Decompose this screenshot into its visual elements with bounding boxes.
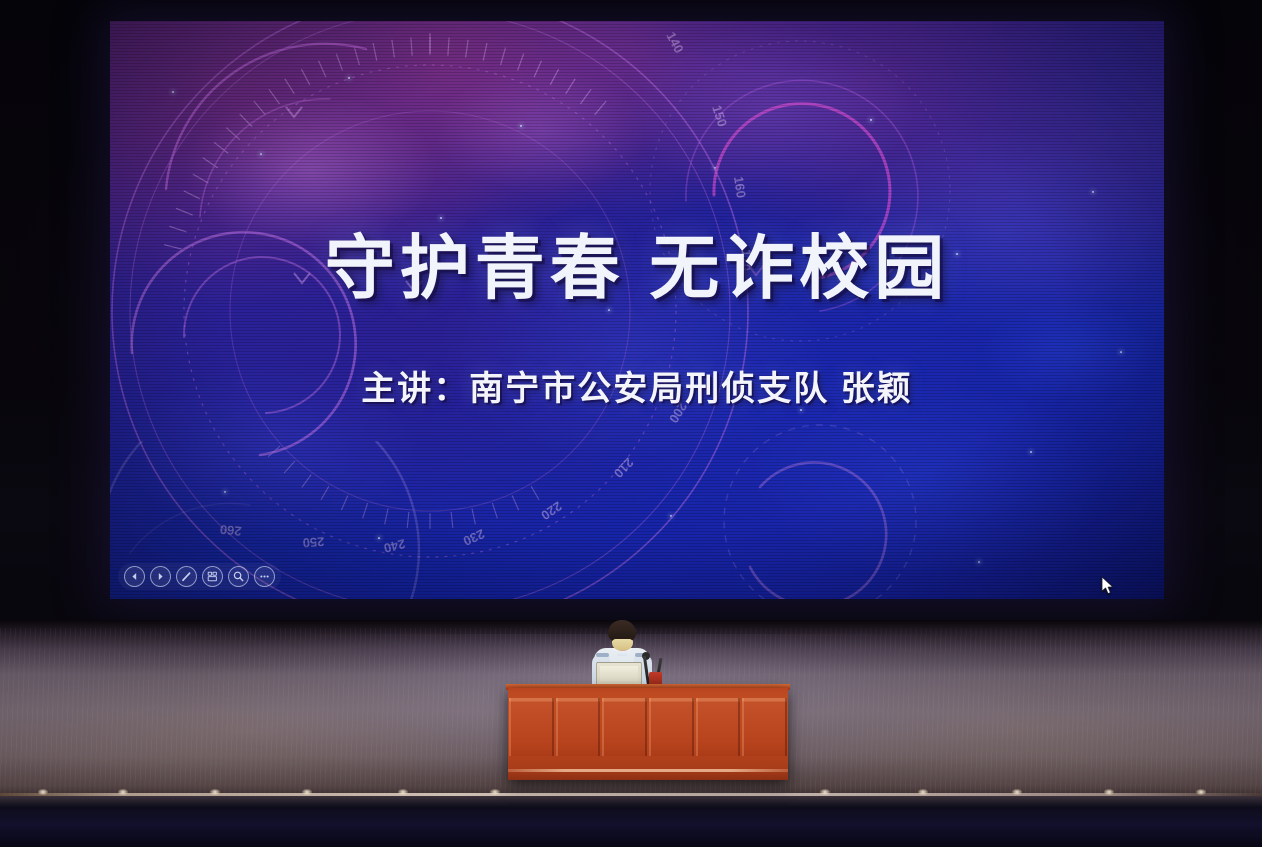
podium-panels	[508, 698, 788, 756]
slide-vignette	[110, 21, 1164, 599]
presentation-toolbar[interactable]	[118, 563, 281, 590]
podium-panel	[602, 698, 647, 756]
slide-grid-icon	[206, 570, 219, 583]
laptop-screen	[600, 666, 638, 681]
podium-panel	[742, 698, 787, 756]
presenter-face-mask	[612, 639, 633, 650]
svg-text:150: 150	[709, 103, 730, 128]
presenter-epaulet-left	[596, 653, 609, 657]
zoom-icon	[232, 570, 245, 583]
svg-text:160: 160	[731, 175, 749, 199]
svg-text:260: 260	[219, 522, 242, 539]
slide-subtitle: 主讲：南宁市公安局刑侦支队 张颖	[110, 372, 1164, 406]
svg-text:140: 140	[663, 29, 686, 55]
slide-title: 守护青春 无诈校园	[110, 233, 1164, 303]
compass-dial-graphic: 140 150 160 170 200 210 220 230 240 250 …	[110, 21, 780, 599]
stage-edge-lights	[0, 789, 1262, 797]
svg-text:240: 240	[382, 536, 407, 556]
svg-text:250: 250	[302, 534, 325, 550]
next-slide-button[interactable]	[150, 566, 171, 587]
dashed-ring-graphic	[670, 391, 970, 599]
podium-panel	[509, 698, 554, 756]
next-slide-icon	[155, 571, 166, 582]
podium-panel	[556, 698, 601, 756]
pen-icon	[180, 570, 193, 583]
wooden-podium	[508, 688, 788, 780]
presentation-slide: 140 150 160 170 200 210 220 230 240 250 …	[110, 21, 1164, 599]
projection-screen: 140 150 160 170 200 210 220 230 240 250 …	[110, 21, 1164, 599]
svg-text:230: 230	[461, 526, 487, 549]
svg-text:220: 220	[538, 499, 564, 524]
podium-base-trim	[508, 769, 788, 772]
stage-front-lip	[0, 796, 1262, 808]
all-slides-button[interactable]	[202, 566, 223, 587]
slide-nebula-texture	[110, 21, 1164, 599]
previous-slide-icon	[129, 571, 140, 582]
led-scanline-texture	[110, 21, 1164, 599]
more-options-button[interactable]	[254, 566, 275, 587]
podium-panel	[696, 698, 741, 756]
more-options-icon	[258, 570, 271, 583]
podium-panel	[649, 698, 694, 756]
screenshot-root: 140 150 160 170 200 210 220 230 240 250 …	[0, 0, 1262, 847]
magenta-ring-graphic	[630, 21, 1010, 371]
pen-button[interactable]	[176, 566, 197, 587]
previous-slide-button[interactable]	[124, 566, 145, 587]
zoom-button[interactable]	[228, 566, 249, 587]
svg-text:210: 210	[611, 455, 637, 481]
